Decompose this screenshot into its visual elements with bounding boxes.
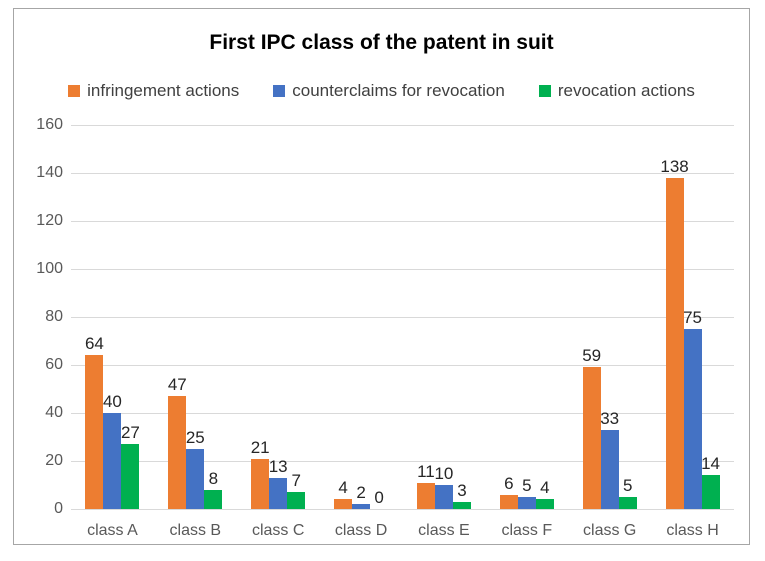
axis-baseline xyxy=(71,509,734,510)
bar[interactable] xyxy=(103,413,121,509)
bar[interactable] xyxy=(601,430,619,509)
bar-value-label: 64 xyxy=(85,335,104,352)
bar-group-bars: 654 xyxy=(485,125,568,509)
bar[interactable] xyxy=(352,504,370,509)
bar-value-label: 47 xyxy=(168,376,187,393)
bar-group-bars: 1387514 xyxy=(651,125,734,509)
bar-value-label: 5 xyxy=(522,477,531,494)
chart-legend: infringement actions counterclaims for r… xyxy=(14,81,749,101)
bar-slot: 40 xyxy=(103,125,121,509)
bar[interactable] xyxy=(121,444,139,509)
chart-title: First IPC class of the patent in suit xyxy=(14,31,749,55)
bar[interactable] xyxy=(334,499,352,509)
bar[interactable] xyxy=(435,485,453,509)
bar-slot: 5 xyxy=(518,125,536,509)
y-axis-tick-label: 140 xyxy=(36,164,63,182)
bar-value-label: 33 xyxy=(600,410,619,427)
bar[interactable] xyxy=(168,396,186,509)
y-axis-tick-label: 20 xyxy=(45,452,63,470)
bar-slot: 13 xyxy=(269,125,287,509)
bar[interactable] xyxy=(453,502,471,509)
bar-slot: 5 xyxy=(619,125,637,509)
legend-item-counterclaims-for-revocation[interactable]: counterclaims for revocation xyxy=(273,81,505,101)
bar-group: 59335class G xyxy=(568,125,651,509)
bar-value-label: 59 xyxy=(582,347,601,364)
y-axis-tick-label: 60 xyxy=(45,356,63,374)
bar-slot: 27 xyxy=(121,125,139,509)
bar-value-label: 4 xyxy=(540,479,549,496)
bar-group-bars: 11103 xyxy=(403,125,486,509)
bar-group: 1387514class H xyxy=(651,125,734,509)
bar-value-label: 25 xyxy=(186,429,205,446)
bar-slot: 47 xyxy=(168,125,186,509)
x-axis-tick-label: class D xyxy=(320,522,403,540)
bar-value-label: 0 xyxy=(374,489,383,506)
bar-slot: 59 xyxy=(583,125,601,509)
legend-swatch-icon xyxy=(273,85,285,97)
y-axis-tick-label: 100 xyxy=(36,260,63,278)
bar-slot: 7 xyxy=(287,125,305,509)
bar[interactable] xyxy=(204,490,222,509)
x-axis-tick-label: class F xyxy=(485,522,568,540)
y-axis-tick-label: 0 xyxy=(54,500,63,518)
bar-slot: 138 xyxy=(666,125,684,509)
bar[interactable] xyxy=(269,478,287,509)
x-axis-tick-label: class C xyxy=(237,522,320,540)
x-axis-tick-label: class H xyxy=(651,522,734,540)
bar-group: 644027class A xyxy=(71,125,154,509)
bar-slot: 4 xyxy=(334,125,352,509)
bar[interactable] xyxy=(500,495,518,509)
bar[interactable] xyxy=(287,492,305,509)
legend-label: infringement actions xyxy=(87,81,239,101)
bar-value-label: 7 xyxy=(291,472,300,489)
bar-group: 11103class E xyxy=(403,125,486,509)
bar-value-label: 6 xyxy=(504,475,513,492)
bar-slot: 14 xyxy=(702,125,720,509)
bar-slot: 33 xyxy=(601,125,619,509)
bar-value-label: 10 xyxy=(434,465,453,482)
bar-slot: 25 xyxy=(186,125,204,509)
bar[interactable] xyxy=(666,178,684,509)
legend-item-revocation-actions[interactable]: revocation actions xyxy=(539,81,695,101)
bar-slot: 21 xyxy=(251,125,269,509)
bar-value-label: 2 xyxy=(356,484,365,501)
bar-slot: 8 xyxy=(204,125,222,509)
bar-value-label: 8 xyxy=(209,470,218,487)
bar-group-bars: 644027 xyxy=(71,125,154,509)
legend-swatch-icon xyxy=(68,85,80,97)
bar-slot: 4 xyxy=(536,125,554,509)
bar-value-label: 13 xyxy=(269,458,288,475)
bar-group-bars: 59335 xyxy=(568,125,651,509)
bar[interactable] xyxy=(619,497,637,509)
bar[interactable] xyxy=(417,483,435,509)
bar-group: 21137class C xyxy=(237,125,320,509)
bar-group-bars: 21137 xyxy=(237,125,320,509)
bar[interactable] xyxy=(536,499,554,509)
bar[interactable] xyxy=(583,367,601,509)
legend-swatch-icon xyxy=(539,85,551,97)
bar-value-label: 40 xyxy=(103,393,122,410)
bar-value-label: 5 xyxy=(623,477,632,494)
y-axis-tick-label: 120 xyxy=(36,212,63,230)
x-axis-tick-label: class G xyxy=(568,522,651,540)
bar-slot: 6 xyxy=(500,125,518,509)
bar-slot: 11 xyxy=(417,125,435,509)
plot-area: 020406080100120140160 644027class A47258… xyxy=(71,125,734,509)
bar[interactable] xyxy=(684,329,702,509)
legend-item-infringement-actions[interactable]: infringement actions xyxy=(68,81,239,101)
bar[interactable] xyxy=(186,449,204,509)
x-axis-tick-label: class E xyxy=(403,522,486,540)
chart-frame: First IPC class of the patent in suit in… xyxy=(13,8,750,545)
bar[interactable] xyxy=(702,475,720,509)
bar-value-label: 4 xyxy=(338,479,347,496)
bar-group: 654class F xyxy=(485,125,568,509)
bar-group: 420class D xyxy=(320,125,403,509)
bar-value-label: 11 xyxy=(417,463,435,480)
bar-group-bars: 47258 xyxy=(154,125,237,509)
bar-slot: 3 xyxy=(453,125,471,509)
x-axis-tick-label: class A xyxy=(71,522,154,540)
bar-slot: 0 xyxy=(370,125,388,509)
bar[interactable] xyxy=(85,355,103,509)
bar-value-label: 14 xyxy=(701,455,720,472)
bar-value-label: 75 xyxy=(683,309,702,326)
bar-slot: 75 xyxy=(684,125,702,509)
bar-value-label: 3 xyxy=(457,482,466,499)
bar-value-label: 27 xyxy=(121,424,140,441)
bar-slot: 64 xyxy=(85,125,103,509)
bar[interactable] xyxy=(518,497,536,509)
legend-label: counterclaims for revocation xyxy=(292,81,505,101)
x-axis-tick-label: class B xyxy=(154,522,237,540)
y-axis-tick-label: 160 xyxy=(36,116,63,134)
y-axis-tick-label: 40 xyxy=(45,404,63,422)
legend-label: revocation actions xyxy=(558,81,695,101)
bar-value-label: 21 xyxy=(251,439,270,456)
bar-group-bars: 420 xyxy=(320,125,403,509)
y-axis-tick-label: 80 xyxy=(45,308,63,326)
bar-slot: 2 xyxy=(352,125,370,509)
bar[interactable] xyxy=(251,459,269,509)
bar-groups: 644027class A47258class B21137class C420… xyxy=(71,125,734,509)
bar-group: 47258class B xyxy=(154,125,237,509)
bar-slot: 10 xyxy=(435,125,453,509)
